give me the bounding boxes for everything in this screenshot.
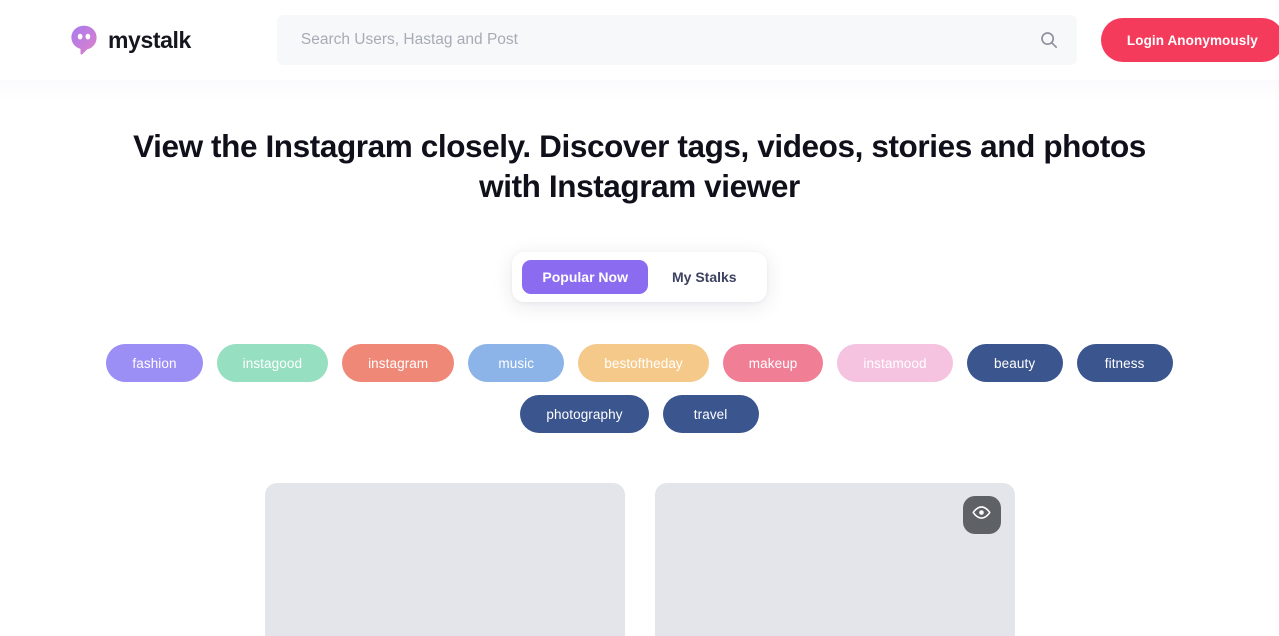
tag-instagram[interactable]: instagram [342, 344, 454, 382]
eye-icon [972, 503, 991, 527]
tag-instamood[interactable]: instamood [837, 344, 952, 382]
tag-makeup[interactable]: makeup [723, 344, 824, 382]
tag-bestoftheday[interactable]: bestoftheday [578, 344, 709, 382]
post-card[interactable] [265, 483, 625, 636]
search-icon[interactable] [1039, 30, 1059, 50]
search-input[interactable] [277, 15, 1077, 65]
brand-name: mystalk [108, 27, 191, 54]
search-container [277, 15, 1077, 65]
tag-travel[interactable]: travel [663, 395, 759, 433]
eye-icon-badge[interactable] [963, 496, 1001, 534]
tag-beauty[interactable]: beauty [967, 344, 1063, 382]
tag-instagood[interactable]: instagood [217, 344, 328, 382]
tabs-row: Popular Now My Stalks [0, 252, 1279, 302]
page-title: View the Instagram closely. Discover tag… [110, 126, 1170, 206]
post-card-grid [0, 483, 1279, 636]
tag-photography[interactable]: photography [520, 395, 648, 433]
tag-music[interactable]: music [468, 344, 564, 382]
tab-my-stalks[interactable]: My Stalks [652, 260, 757, 294]
brand-logo-link[interactable]: mystalk [70, 25, 191, 55]
post-card[interactable] [655, 483, 1015, 636]
tag-fitness[interactable]: fitness [1077, 344, 1173, 382]
site-header: mystalk Login Anonymously [0, 0, 1279, 80]
hero-section: View the Instagram closely. Discover tag… [0, 80, 1279, 433]
login-anonymously-button[interactable]: Login Anonymously [1101, 18, 1279, 62]
tag-fashion[interactable]: fashion [106, 344, 202, 382]
page-root: mystalk Login Anonymously View the Insta… [0, 0, 1279, 636]
tag-list: fashion instagood instagram music bestof… [90, 344, 1190, 433]
ghost-speech-bubble-icon [70, 25, 98, 55]
tab-popular-now[interactable]: Popular Now [522, 260, 648, 294]
tab-group: Popular Now My Stalks [512, 252, 766, 302]
